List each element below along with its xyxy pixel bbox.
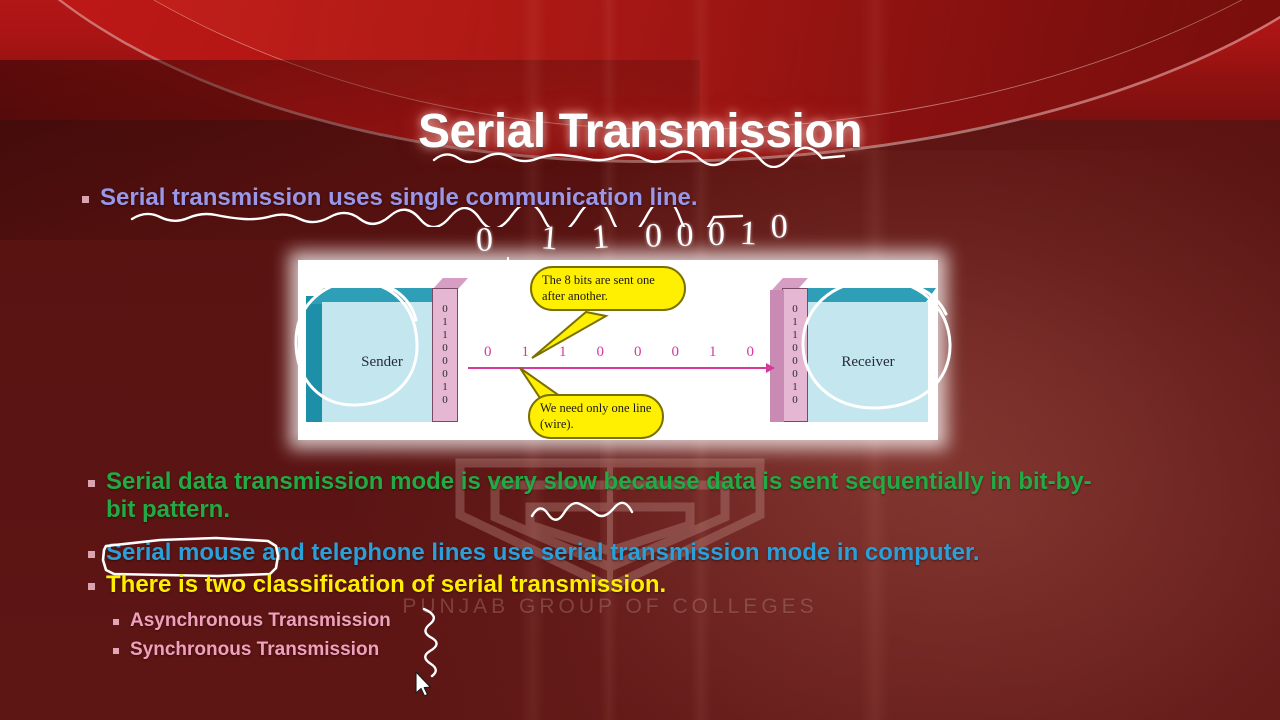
bullet-text-4: There is two classification of serial tr… — [106, 571, 666, 599]
bullet-text-2: Serial data transmission mode is very sl… — [106, 468, 1098, 525]
sender-bit: 0 — [442, 342, 448, 355]
transmission-wire — [468, 367, 768, 369]
ink-bit: 1 — [540, 219, 563, 258]
ink-bit: 0 — [645, 217, 666, 255]
bubble-top-tail — [526, 310, 616, 362]
ink-handwritten-bits: 0 1 1 0 0 0 1 0 — [476, 214, 792, 260]
receiver-bitcolumn: 0 1 1 0 0 0 1 0 — [782, 288, 808, 422]
bullet-text-3: Serial mouse and telephone lines use ser… — [106, 539, 980, 567]
bitstream-labels: 0 1 1 0 0 0 1 0 — [484, 344, 754, 361]
sub-bullet-item-2: Synchronous Transmission — [113, 639, 379, 661]
ink-bit: 0 — [770, 208, 791, 246]
bullet-item-1: Serial transmission uses single communic… — [82, 184, 698, 212]
bullet-marker-icon — [82, 196, 89, 203]
sub-bullet-text-1: Asynchronous Transmission — [130, 610, 391, 632]
sender-bit: 0 — [442, 355, 448, 368]
sender-bit: 0 — [442, 394, 448, 407]
ink-bit: 1 — [739, 215, 761, 254]
bullet-item-2: Serial data transmission mode is very sl… — [88, 468, 1098, 525]
ink-bit: 0 — [708, 216, 729, 254]
receiver-bit: 0 — [792, 342, 798, 355]
receiver-bit: 0 — [792, 394, 798, 407]
serial-transmission-diagram: Sender 0 1 1 0 0 0 1 0 Receiver — [298, 260, 938, 440]
bullet-item-4: There is two classification of serial tr… — [88, 571, 1098, 599]
receiver-bitcolumn-side — [770, 290, 784, 422]
ink-bit: 0 — [676, 216, 697, 254]
sender-bit: 1 — [442, 381, 448, 394]
sender-bit: 0 — [442, 303, 448, 316]
bubble-bottom: We need only one line (wire). — [528, 394, 664, 439]
receiver-bit: 0 — [792, 368, 798, 381]
bubble-top: The 8 bits are sent one after another. — [530, 266, 686, 311]
ink-bit: 1 — [591, 218, 614, 257]
receiver-label: Receiver — [808, 354, 928, 371]
page-title: Serial Transmission — [0, 104, 1280, 159]
sender-label: Sender — [322, 354, 442, 371]
bullet-marker-icon — [88, 583, 95, 590]
sub-bullet-item-1: Asynchronous Transmission — [113, 610, 391, 632]
receiver-bit: 1 — [792, 316, 798, 329]
receiver-bit: 1 — [792, 381, 798, 394]
sender-bit: 1 — [442, 316, 448, 329]
bubble-top-text: The 8 bits are sent one after another. — [542, 273, 655, 303]
bullet-marker-icon — [113, 619, 119, 625]
bullet-marker-icon — [88, 551, 95, 558]
stream-bit: 0 — [484, 344, 492, 361]
receiver-bit: 1 — [792, 329, 798, 342]
receiver-bit: 0 — [792, 355, 798, 368]
bullet-marker-icon — [88, 480, 95, 487]
sender-box-side — [306, 296, 322, 422]
bullet-text-1: Serial transmission uses single communic… — [100, 184, 698, 212]
stream-bit: 0 — [634, 344, 642, 361]
sub-bullet-text-2: Synchronous Transmission — [130, 639, 379, 661]
bullet-item-3: Serial mouse and telephone lines use ser… — [88, 539, 1098, 567]
wire-arrowhead-icon — [766, 363, 775, 373]
sender-bitcolumn: 0 1 1 0 0 0 1 0 — [432, 288, 458, 422]
bubble-bottom-text: We need only one line (wire). — [540, 401, 651, 431]
mouse-cursor-icon — [414, 671, 434, 701]
sender-bit: 1 — [442, 329, 448, 342]
sender-bit: 0 — [442, 368, 448, 381]
receiver-node: Receiver — [786, 282, 936, 422]
stream-bit: 0 — [747, 344, 755, 361]
stream-bit: 1 — [709, 344, 717, 361]
ink-bit: 0 — [476, 221, 497, 259]
bullet-marker-icon — [113, 648, 119, 654]
stream-bit: 0 — [672, 344, 680, 361]
receiver-bit: 0 — [792, 303, 798, 316]
presentation-slide: PUNJAB GROUP OF COLLEGES Serial Transmis… — [0, 0, 1280, 720]
ink-squiggle-brace — [418, 606, 448, 678]
